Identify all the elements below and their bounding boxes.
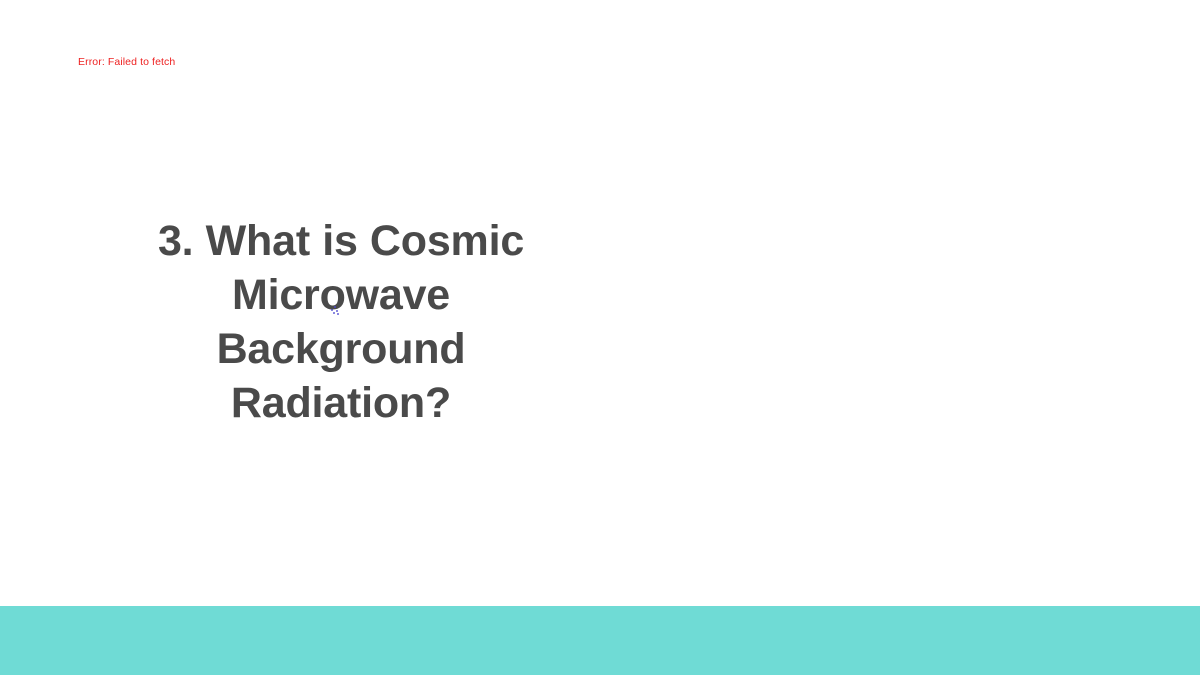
bottom-accent-band bbox=[0, 606, 1200, 675]
slide-canvas: Error: Failed to fetch 3. What is Cosmic… bbox=[0, 0, 1200, 675]
page-title: 3. What is Cosmic Microwave Background R… bbox=[130, 214, 552, 430]
error-message: Error: Failed to fetch bbox=[78, 55, 175, 70]
title-block: 3. What is Cosmic Microwave Background R… bbox=[130, 214, 552, 430]
